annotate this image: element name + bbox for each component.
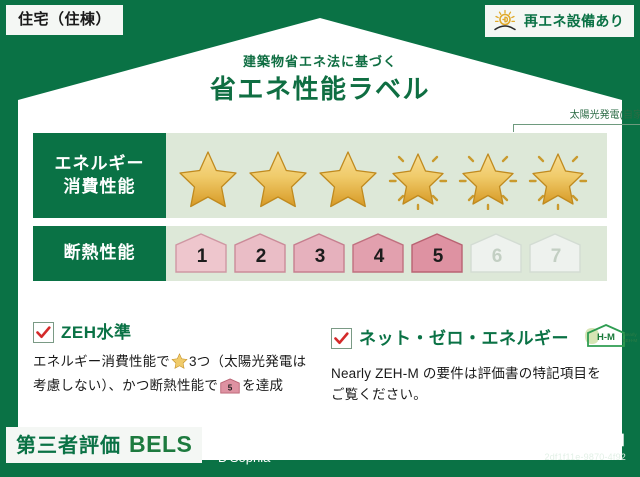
star-4-solar bbox=[384, 147, 452, 211]
star-icon bbox=[317, 149, 379, 209]
insulation-performance-value: 1 2 3 bbox=[166, 226, 607, 281]
building-type-tag: 住宅（住棟） bbox=[6, 5, 123, 35]
solar-annotation-label: 太陽光発電(自家消費)分 bbox=[513, 111, 640, 121]
zeh-logo-sub2: ZEH-M bbox=[623, 338, 638, 343]
grade-number: 7 bbox=[551, 247, 562, 266]
energy-performance-row: エネルギー 消費性能 太陽光発電(自家消費)分 bbox=[33, 133, 607, 218]
evaluation-id: 2df1f11e-9870-4f92 bbox=[479, 453, 626, 462]
criteria-zeh-title: ZEH水準 bbox=[61, 324, 132, 341]
star-icon bbox=[177, 149, 239, 209]
evaluation-info: 評価日 2025年7月25日 2df1f11e-9870-4f92 bbox=[479, 433, 626, 462]
grade-number: 2 bbox=[256, 247, 267, 266]
renewable-badge-label: 再エネ設備あり bbox=[524, 14, 624, 28]
energy-key-line1: エネルギー bbox=[55, 153, 145, 176]
insulation-performance-row: 断熱性能 1 2 bbox=[33, 226, 607, 281]
insulation-grade-scale: 1 2 3 bbox=[174, 232, 584, 276]
energy-performance-label: 住宅（住棟） 再エネ設備あり 建築物省エネ法に基づく 省エネ性能ラベル bbox=[0, 0, 640, 477]
criteria-zeh-body: エネルギー消費性能で3つ（太陽光発電は考慮しない）、かつ断熱性能で5を達成 bbox=[33, 352, 313, 401]
criteria-zeh: ZEH水準 エネルギー消費性能で3つ（太陽光発電は考慮しない）、かつ断熱性能で5… bbox=[33, 322, 313, 406]
check-icon bbox=[36, 326, 51, 339]
inline-star-icon bbox=[171, 353, 188, 376]
criteria-net-zero-title: ネット・ゼロ・エネルギー bbox=[359, 330, 569, 347]
insulation-grade-1: 1 bbox=[174, 232, 230, 276]
grade-number: 6 bbox=[492, 247, 503, 266]
insulation-grade-4: 4 bbox=[351, 232, 407, 276]
zeh-checkbox[interactable] bbox=[33, 322, 54, 343]
label-footer: 第三者評価 BELS D'Sophia 評価日 2025年7月25日 2df1f… bbox=[0, 423, 640, 477]
zeh-body-part1: エネルギー消費性能で bbox=[33, 354, 170, 369]
performance-panel: エネルギー 消費性能 太陽光発電(自家消費)分 bbox=[33, 133, 607, 281]
label-title: 省エネ性能ラベル bbox=[0, 76, 640, 102]
bels-logo-text: BELS bbox=[129, 433, 192, 456]
solar-sun-icon bbox=[492, 9, 518, 33]
zeh-body-part3: を達成 bbox=[242, 378, 283, 393]
bels-jp-label: 第三者評価 bbox=[16, 436, 121, 456]
star-6-solar bbox=[524, 147, 592, 211]
criteria-net-zero-body: Nearly ZEH-M の要件は評価書の特記項目をご覧ください。 bbox=[331, 364, 611, 406]
solar-annotation: 太陽光発電(自家消費)分 bbox=[513, 111, 640, 132]
energy-performance-value: 太陽光発電(自家消費)分 bbox=[166, 133, 607, 218]
insulation-grade-2: 2 bbox=[233, 232, 289, 276]
grade-number: 4 bbox=[374, 247, 385, 266]
grade-number: 3 bbox=[315, 247, 326, 266]
zeh-logo-main: H-M bbox=[597, 332, 615, 343]
insulation-grade-6: 6 bbox=[469, 232, 525, 276]
renewable-equipment-badge: 再エネ設備あり bbox=[485, 5, 634, 37]
label-title-block: 建築物省エネ法に基づく 省エネ性能ラベル bbox=[0, 55, 640, 102]
insulation-performance-key: 断熱性能 bbox=[33, 226, 166, 281]
net-zero-checkbox[interactable] bbox=[331, 328, 352, 349]
star-sparkle-icon bbox=[385, 148, 451, 210]
star-1 bbox=[174, 147, 242, 211]
star-2 bbox=[244, 147, 312, 211]
criteria-zeh-header: ZEH水準 bbox=[33, 322, 313, 343]
criteria-net-zero-header: ネット・ゼロ・エネルギー H-M Nearly ZEH-M bbox=[331, 322, 611, 355]
energy-key-line2: 消費性能 bbox=[64, 176, 136, 199]
label-subtitle: 建築物省エネ法に基づく bbox=[0, 55, 640, 68]
star-icon bbox=[247, 149, 309, 209]
inline-grade-badge: 5 bbox=[220, 378, 240, 401]
insulation-grade-7: 7 bbox=[528, 232, 584, 276]
star-rating bbox=[174, 147, 592, 211]
insulation-grade-3: 3 bbox=[292, 232, 348, 276]
grade-number: 1 bbox=[197, 247, 208, 266]
insulation-key-label: 断熱性能 bbox=[64, 242, 136, 265]
zeh-m-logo: H-M Nearly ZEH-M bbox=[580, 322, 638, 355]
svg-text:5: 5 bbox=[228, 383, 233, 392]
star-sparkle-icon bbox=[525, 148, 591, 210]
zeh-logo-sub1: Nearly bbox=[623, 332, 637, 337]
builder-name: D'Sophia bbox=[218, 451, 270, 464]
criteria-section: ZEH水準 エネルギー消費性能で3つ（太陽光発電は考慮しない）、かつ断熱性能で5… bbox=[33, 322, 611, 406]
solar-annotation-bracket bbox=[513, 124, 640, 132]
criteria-net-zero: ネット・ゼロ・エネルギー H-M Nearly ZEH-M Nearly ZEH… bbox=[331, 322, 611, 406]
star-5-solar bbox=[454, 147, 522, 211]
star-3 bbox=[314, 147, 382, 211]
check-icon bbox=[334, 332, 349, 345]
bels-plate: 第三者評価 BELS bbox=[6, 427, 202, 463]
evaluation-date: 評価日 2025年7月25日 bbox=[479, 433, 626, 447]
star-sparkle-icon bbox=[455, 148, 521, 210]
energy-performance-key: エネルギー 消費性能 bbox=[33, 133, 166, 218]
insulation-grade-5: 5 bbox=[410, 232, 466, 276]
grade-number: 5 bbox=[433, 247, 444, 266]
